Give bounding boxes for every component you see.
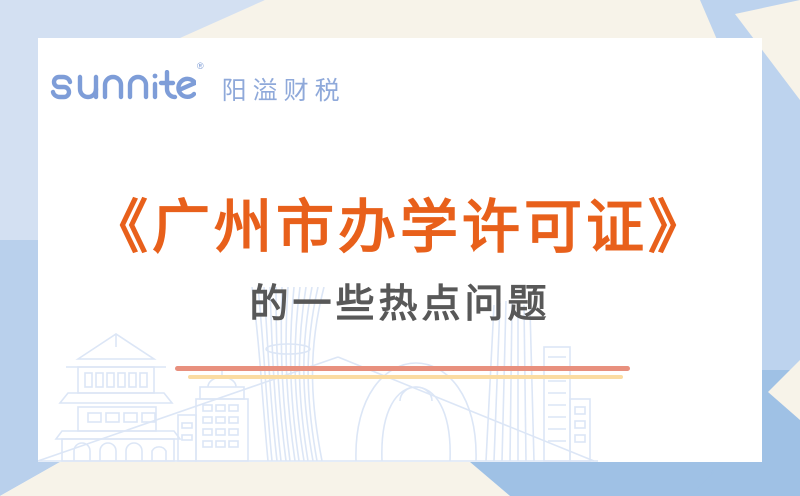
poster-headline: 《广州市办学许可证》 xyxy=(38,198,762,256)
poster-subheadline: 的一些热点问题 xyxy=(38,285,762,324)
sunnite-wordmark-icon xyxy=(50,70,196,104)
brand-logo: ® 阳溢财税 xyxy=(50,60,346,104)
divider-rule-amber xyxy=(188,375,623,379)
bottom-cream-band xyxy=(0,462,510,496)
poster-canvas: ® 阳溢财税 《广州市办学许可证》 的一些热点问题 xyxy=(0,0,800,496)
content-card: ® 阳溢财税 《广州市办学许可证》 的一些热点问题 xyxy=(38,38,762,462)
company-name-cn: 阳溢财税 xyxy=(222,78,346,103)
divider-rule-salmon xyxy=(175,366,630,371)
registered-trademark-icon: ® xyxy=(197,62,204,71)
